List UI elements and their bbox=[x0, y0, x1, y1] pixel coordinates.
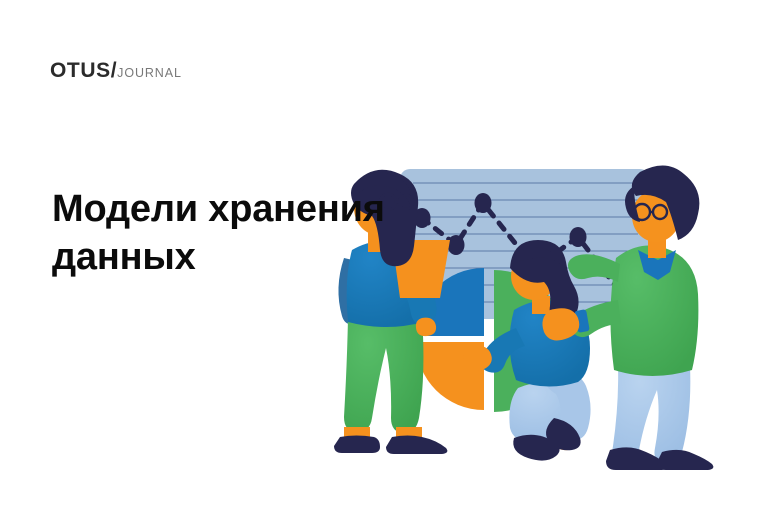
woman-hand bbox=[416, 318, 436, 336]
page-title: Модели хранения данных bbox=[52, 185, 472, 281]
woman-ankle-left bbox=[344, 427, 370, 437]
man-shoe-right bbox=[657, 450, 713, 470]
woman-shoe-right bbox=[386, 436, 447, 455]
otus-journal-logo[interactable]: OTUS/ JOURNAL bbox=[50, 60, 182, 81]
woman-pants bbox=[344, 314, 423, 434]
woman-ankle-right bbox=[396, 427, 422, 437]
logo-sub-text: JOURNAL bbox=[117, 67, 182, 80]
logo-mark-text: OTUS/ bbox=[50, 60, 117, 81]
woman-shoe-left bbox=[334, 436, 380, 454]
cover-canvas: OTUS/ JOURNAL Модели хранения данных bbox=[0, 0, 770, 515]
